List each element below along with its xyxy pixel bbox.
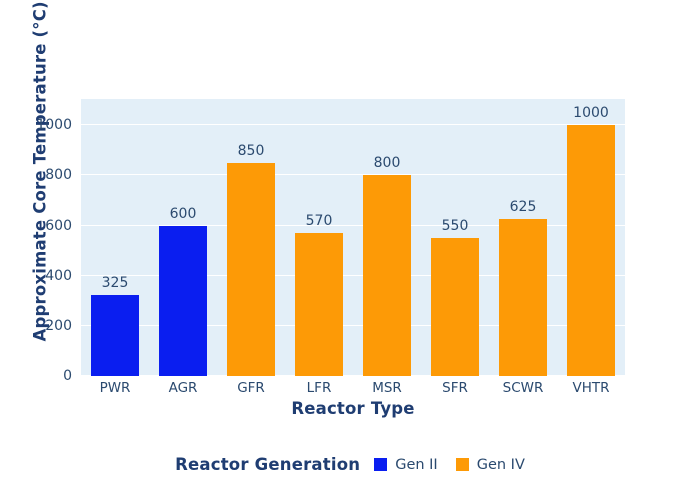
y-axis-tick-label: 200 xyxy=(2,319,72,333)
bar-series-group: 3256008505708005506251000 xyxy=(81,99,625,376)
bar-slot: 550 xyxy=(421,99,489,376)
bar[interactable]: 325 xyxy=(91,295,139,376)
bar-value-label: 625 xyxy=(510,199,537,215)
bar-slot: 850 xyxy=(217,99,285,376)
bar-slot: 325 xyxy=(81,99,149,376)
legend: Reactor Generation Gen IIGen IV xyxy=(0,455,700,474)
x-axis-tick-label: PWR xyxy=(81,380,149,396)
plot-area: 3256008505708005506251000 xyxy=(81,99,625,376)
bar[interactable]: 550 xyxy=(431,238,479,376)
legend-color-swatch-icon xyxy=(456,458,469,471)
legend-entry[interactable]: Gen II xyxy=(374,457,438,473)
x-axis-tick-label: MSR xyxy=(353,380,421,396)
y-axis-tick-label: 400 xyxy=(2,269,72,283)
y-axis-tick-label: 1000 xyxy=(2,118,72,132)
bar-value-label: 850 xyxy=(238,143,265,159)
legend-entries: Gen IIGen IV xyxy=(374,457,525,473)
bar-slot: 1000 xyxy=(557,99,625,376)
bar-chart-figure: Approximate Core Temperature (°C) 020040… xyxy=(0,0,700,500)
x-axis-tick-label: LFR xyxy=(285,380,353,396)
x-axis-tick-labels: PWRAGRGFRLFRMSRSFRSCWRVHTR xyxy=(81,380,625,396)
x-axis-tick-label: GFR xyxy=(217,380,285,396)
bar[interactable]: 850 xyxy=(227,163,275,376)
y-axis-tick-label: 600 xyxy=(2,219,72,233)
bar-value-label: 550 xyxy=(442,218,469,234)
legend-entry-label: Gen IV xyxy=(477,457,525,473)
legend-entry-label: Gen II xyxy=(395,457,438,473)
bar-value-label: 1000 xyxy=(573,105,609,121)
bar-slot: 570 xyxy=(285,99,353,376)
bar-value-label: 325 xyxy=(102,275,129,291)
bar[interactable]: 600 xyxy=(159,226,207,376)
bar-value-label: 600 xyxy=(170,206,197,222)
legend-color-swatch-icon xyxy=(374,458,387,471)
bar-slot: 625 xyxy=(489,99,557,376)
bar-slot: 800 xyxy=(353,99,421,376)
bar-value-label: 800 xyxy=(374,155,401,171)
bar[interactable]: 570 xyxy=(295,233,343,376)
x-axis-title: Reactor Type xyxy=(81,399,625,418)
legend-title: Reactor Generation xyxy=(175,455,360,474)
x-axis-tick-label: AGR xyxy=(149,380,217,396)
x-axis-tick-label: VHTR xyxy=(557,380,625,396)
bar-value-label: 570 xyxy=(306,213,333,229)
x-axis-tick-label: SFR xyxy=(421,380,489,396)
x-axis-tick-label: SCWR xyxy=(489,380,557,396)
y-axis-tick-label: 0 xyxy=(2,369,72,383)
legend-entry[interactable]: Gen IV xyxy=(456,457,525,473)
bar[interactable]: 625 xyxy=(499,219,547,376)
bar-slot: 600 xyxy=(149,99,217,376)
bar[interactable]: 1000 xyxy=(567,125,615,376)
y-axis-tick-label: 800 xyxy=(2,168,72,182)
bar[interactable]: 800 xyxy=(363,175,411,376)
